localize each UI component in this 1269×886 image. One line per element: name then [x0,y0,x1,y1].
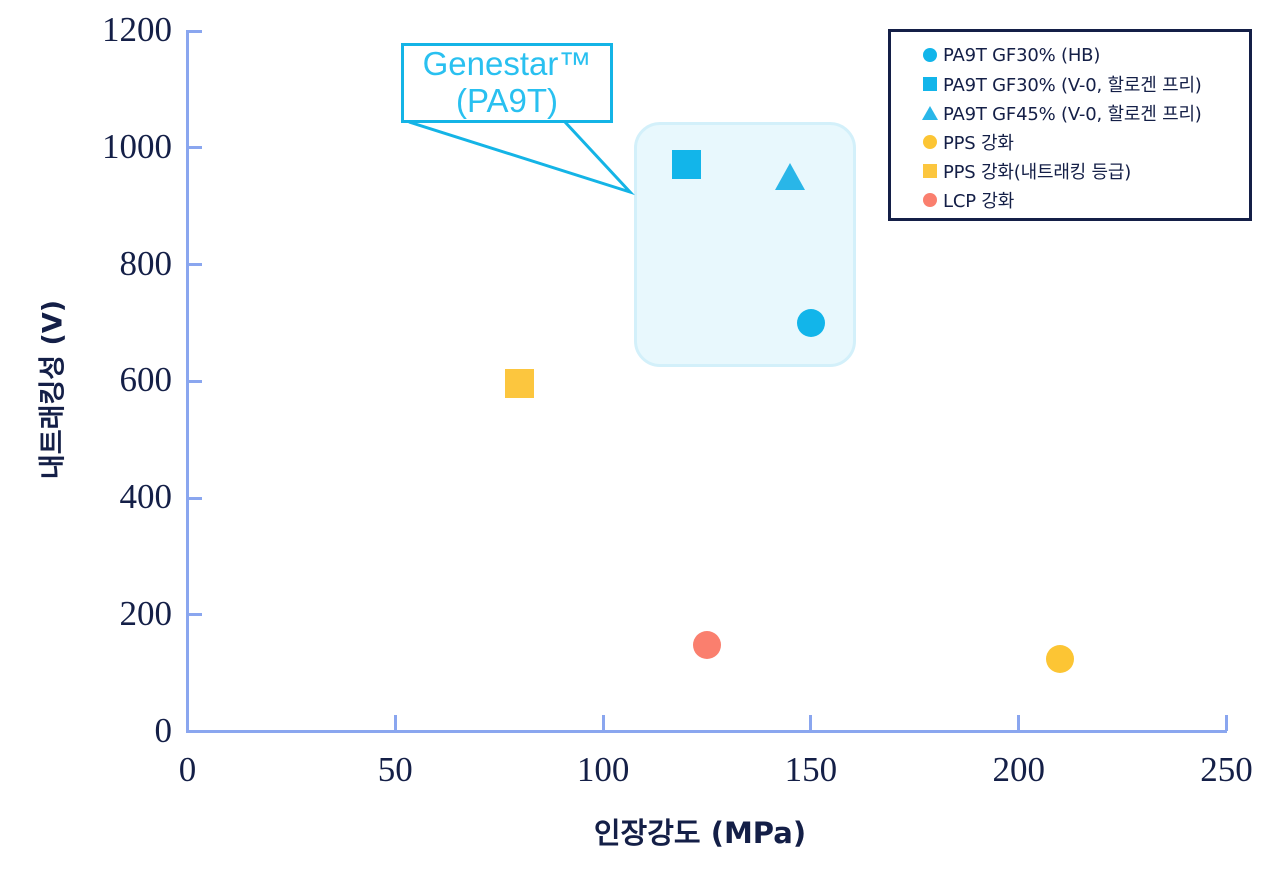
x-tick-0 [186,715,189,731]
legend-item[interactable]: PA9T GF30% (HB) [899,41,1239,69]
y-tick-label: 400 [0,479,172,514]
y-tick-label: 200 [0,596,172,631]
data-point-triangle [775,163,805,190]
legend: PA9T GF30% (HB)PA9T GF30% (V-0, 할로겐 프리)P… [888,29,1252,221]
data-point-circle [693,631,721,659]
x-tick-label: 150 [751,752,871,787]
legend-item[interactable]: PA9T GF45% (V-0, 할로겐 프리) [899,99,1239,127]
legend-marker-circle-icon [917,193,943,207]
x-tick-250 [1225,715,1228,731]
x-tick-label: 0 [128,752,248,787]
legend-item-label: PA9T GF45% (V-0, 할로겐 프리) [943,100,1202,126]
x-tick-200 [1017,715,1020,731]
legend-marker-square-icon [917,164,943,178]
callout-line-2: (PA9T) [456,83,558,120]
y-tick-400 [186,497,202,500]
x-tick-label: 250 [1167,752,1269,787]
y-tick-1000 [186,146,202,149]
y-tick-label: 1200 [0,12,172,47]
callout-line-1: Genestar™ [423,46,592,83]
legend-item[interactable]: PA9T GF30% (V-0, 할로겐 프리) [899,70,1239,98]
y-tick-label: 0 [0,713,172,748]
x-tick-150 [809,715,812,731]
legend-swatch [923,77,937,91]
data-point-square [672,150,701,179]
legend-swatch [922,106,938,120]
legend-swatch [923,135,937,149]
legend-item-label: PPS 강화 [943,129,1014,155]
x-tick-50 [394,715,397,731]
y-tick-200 [186,613,202,616]
legend-swatch [923,164,937,178]
legend-item-label: PA9T GF30% (HB) [943,45,1100,66]
y-tick-label: 1000 [0,129,172,164]
x-axis-line [186,730,1227,733]
x-tick-label: 100 [543,752,663,787]
legend-marker-square-icon [917,77,943,91]
y-tick-label: 600 [0,362,172,397]
legend-item-label: LCP 강화 [943,187,1014,213]
legend-item[interactable]: PPS 강화 [899,128,1239,156]
legend-marker-circle-icon [917,48,943,62]
data-point-circle [797,309,825,337]
data-point-circle [1046,645,1074,673]
callout-pointer-icon [390,110,650,210]
x-axis-title: 인장강도 (MPa) [400,810,1000,852]
x-tick-label: 200 [959,752,1079,787]
legend-item[interactable]: LCP 강화 [899,186,1239,214]
legend-marker-triangle-icon [917,106,943,120]
y-tick-label: 800 [0,246,172,281]
x-tick-100 [602,715,605,731]
legend-item-label: PA9T GF30% (V-0, 할로겐 프리) [943,71,1202,97]
legend-swatch [923,48,937,62]
y-tick-800 [186,263,202,266]
legend-marker-circle-icon [917,135,943,149]
y-tick-1200 [186,30,202,33]
legend-item[interactable]: PPS 강화(내트래킹 등급) [899,157,1239,185]
legend-swatch [923,193,937,207]
genestar-callout: Genestar™ (PA9T) [401,43,613,123]
chart-canvas: 120010008006004002000 050100150200250 내트… [0,0,1269,886]
data-point-square [505,369,534,398]
legend-item-label: PPS 강화(내트래킹 등급) [943,158,1131,184]
y-tick-600 [186,380,202,383]
x-tick-label: 50 [335,752,455,787]
y-axis-title: 내트래킹성 (V) [31,230,70,550]
